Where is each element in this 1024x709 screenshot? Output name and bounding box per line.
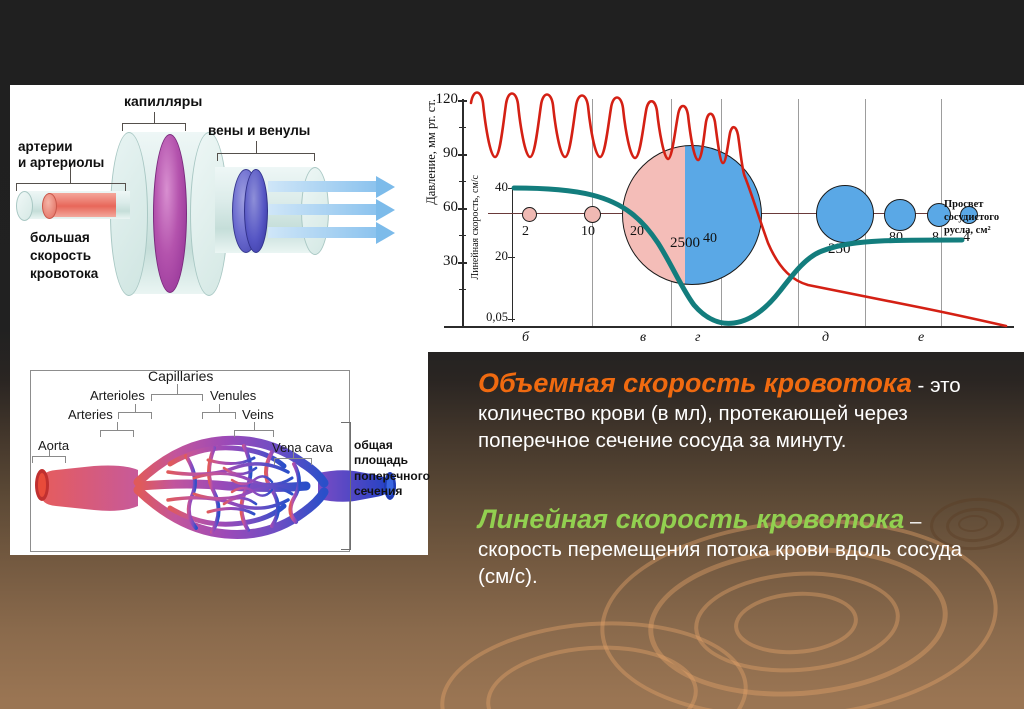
lumen-axis-label-line3: русла, см²	[944, 225, 999, 238]
chart-curves-svg	[428, 85, 1024, 352]
lumen-axis-label-line2: сосудистого	[944, 212, 999, 225]
lumen-axis-label-line1: Просвет	[944, 199, 999, 212]
label-capillaries-en: Capillaries	[148, 368, 213, 384]
label-blood-speed-line1: большая	[30, 230, 90, 246]
label-veins-en: Veins	[242, 407, 274, 422]
flow-arrow-1-head	[376, 176, 395, 198]
flow-arrow-2-shaft	[268, 204, 376, 215]
flow-arrow-1-shaft	[268, 181, 376, 192]
cross-section-line1: общая	[354, 438, 430, 453]
brace-veins-stem-en	[254, 422, 255, 430]
capillaries-brace-stem	[154, 112, 155, 123]
label-veins-venules: вены и венулы	[208, 123, 310, 139]
vessel-cylinder-diagram: капилляры вены и венулы артерии и артери…	[10, 85, 428, 353]
paragraph-volumetric-flow: Объемная скорость кровотока - это количе…	[478, 366, 998, 454]
label-capillaries: капилляры	[124, 93, 202, 109]
veins-brace-stem	[256, 141, 257, 153]
cross-section-line3: поперечного	[354, 469, 430, 484]
pressure-curve	[471, 93, 1006, 327]
label-arteries-line1: артерии	[18, 139, 73, 155]
flow-arrow-3-shaft	[268, 227, 376, 238]
flow-arrow-3-head	[376, 222, 395, 244]
label-blood-speed-line3: кровотока	[30, 266, 98, 282]
brace-arteries-en	[100, 430, 134, 431]
label-arterioles-en: Arterioles	[90, 388, 145, 403]
brace-veins-en	[234, 430, 274, 431]
capillaries-brace	[122, 123, 186, 124]
label-blood-speed-line2: скорость	[30, 248, 91, 264]
label-arteries-en: Arteries	[68, 407, 113, 422]
brace-venacava-stem-en	[293, 452, 294, 458]
brace-aorta-en	[32, 456, 66, 457]
cross-section-line4: сечения	[354, 484, 430, 499]
label-vena-cava-en: Vena cava	[272, 440, 333, 455]
lumen-axis-label: Просвет сосудистого русла, см²	[944, 199, 999, 237]
vein-cross-section-disc-2	[244, 169, 268, 253]
brace-aorta-stem-en	[49, 450, 50, 456]
arteries-brace	[16, 183, 126, 184]
keyword-linear-flow: Линейная скорость кровотока	[478, 504, 904, 534]
hemodynamics-chart: Давление, мм рт. ст. Линейная скорость, …	[428, 85, 1024, 352]
artery-tube-left-cap	[16, 191, 33, 221]
definitions-text-block: Объемная скорость кровотока - это количе…	[478, 366, 998, 597]
brace-arteries-stem-en	[117, 422, 118, 430]
label-total-cross-section: общая площадь поперечного сечения	[354, 438, 430, 499]
brace-capillaries-en	[151, 394, 203, 395]
label-aorta-en: Aorta	[38, 438, 69, 453]
cross-section-line2: площадь	[354, 453, 430, 468]
artery-blood-segment	[48, 193, 116, 217]
paragraph-linear-flow: Линейная скорость кровотока – скорость п…	[478, 502, 998, 590]
brace-venacava-en	[274, 458, 312, 459]
artery-blood-cap	[42, 193, 57, 219]
brace-arterioles-stem-en	[135, 404, 136, 412]
label-venules-en: Venules	[210, 388, 256, 403]
veins-brace	[217, 153, 315, 154]
brace-arterioles-en	[118, 412, 152, 413]
keyword-volumetric-flow: Объемная скорость кровотока	[478, 368, 912, 398]
vascular-network-diagram: Capillaries Arterioles Venules Arteries …	[18, 360, 422, 553]
label-arteries-line2: и артериолы	[18, 155, 104, 171]
capillary-cross-section-disc	[153, 134, 187, 293]
cross-section-area-brace	[328, 422, 351, 550]
flow-arrow-2-head	[376, 199, 395, 221]
brace-venules-stem-en	[219, 404, 220, 412]
brace-capillaries-stem-en	[177, 384, 178, 394]
brace-venules-en	[202, 412, 236, 413]
slide: капилляры вены и венулы артерии и артери…	[0, 0, 1024, 709]
